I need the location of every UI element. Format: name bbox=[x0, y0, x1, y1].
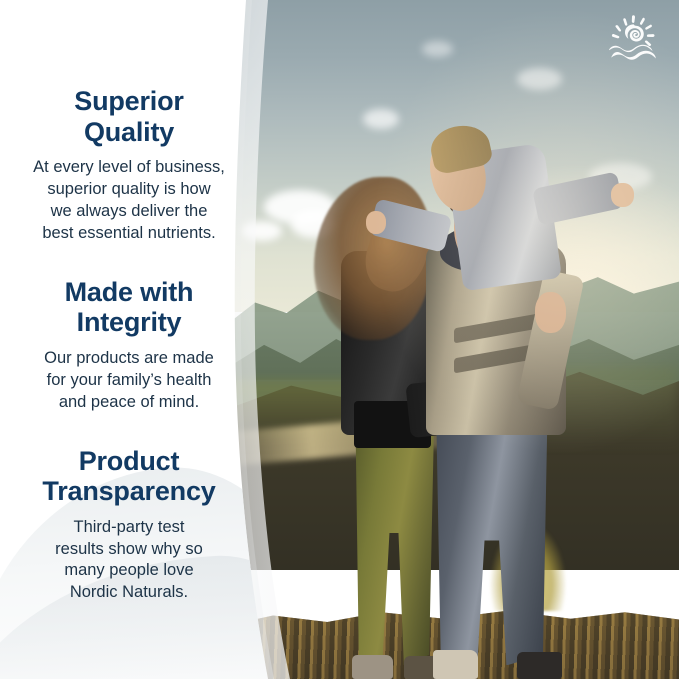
vest-chevron bbox=[454, 313, 538, 343]
benefit-block-product-transparency: Product Transparency Third-party test re… bbox=[8, 446, 250, 605]
family-group bbox=[228, 0, 679, 679]
benefit-heading: Made with Integrity bbox=[8, 277, 250, 338]
father-jeans bbox=[431, 394, 553, 666]
photo-inner bbox=[228, 0, 679, 679]
benefits-copy: Superior Quality At every level of busin… bbox=[0, 0, 258, 679]
child-hand bbox=[611, 183, 634, 207]
family-outdoors-photo bbox=[228, 0, 679, 679]
sun-wave-logo-icon bbox=[605, 14, 663, 66]
benefit-heading: Superior Quality bbox=[8, 86, 250, 147]
benefit-body: At every level of business, superior qua… bbox=[8, 157, 250, 245]
mother-shoe bbox=[352, 655, 393, 679]
father-hand bbox=[535, 292, 567, 333]
child-hand bbox=[366, 211, 386, 234]
mother-hair bbox=[314, 177, 431, 340]
benefit-body: Our products are made for your family’s … bbox=[8, 348, 250, 414]
benefit-block-superior-quality: Superior Quality At every level of busin… bbox=[8, 86, 250, 245]
benefit-heading: Product Transparency bbox=[8, 446, 250, 507]
benefit-block-made-with-integrity: Made with Integrity Our products are mad… bbox=[8, 277, 250, 414]
father-shoe bbox=[517, 652, 562, 679]
promo-banner: Superior Quality At every level of busin… bbox=[0, 0, 679, 679]
benefit-body: Third-party test results show why so man… bbox=[8, 517, 250, 605]
father-shoe bbox=[433, 650, 478, 679]
